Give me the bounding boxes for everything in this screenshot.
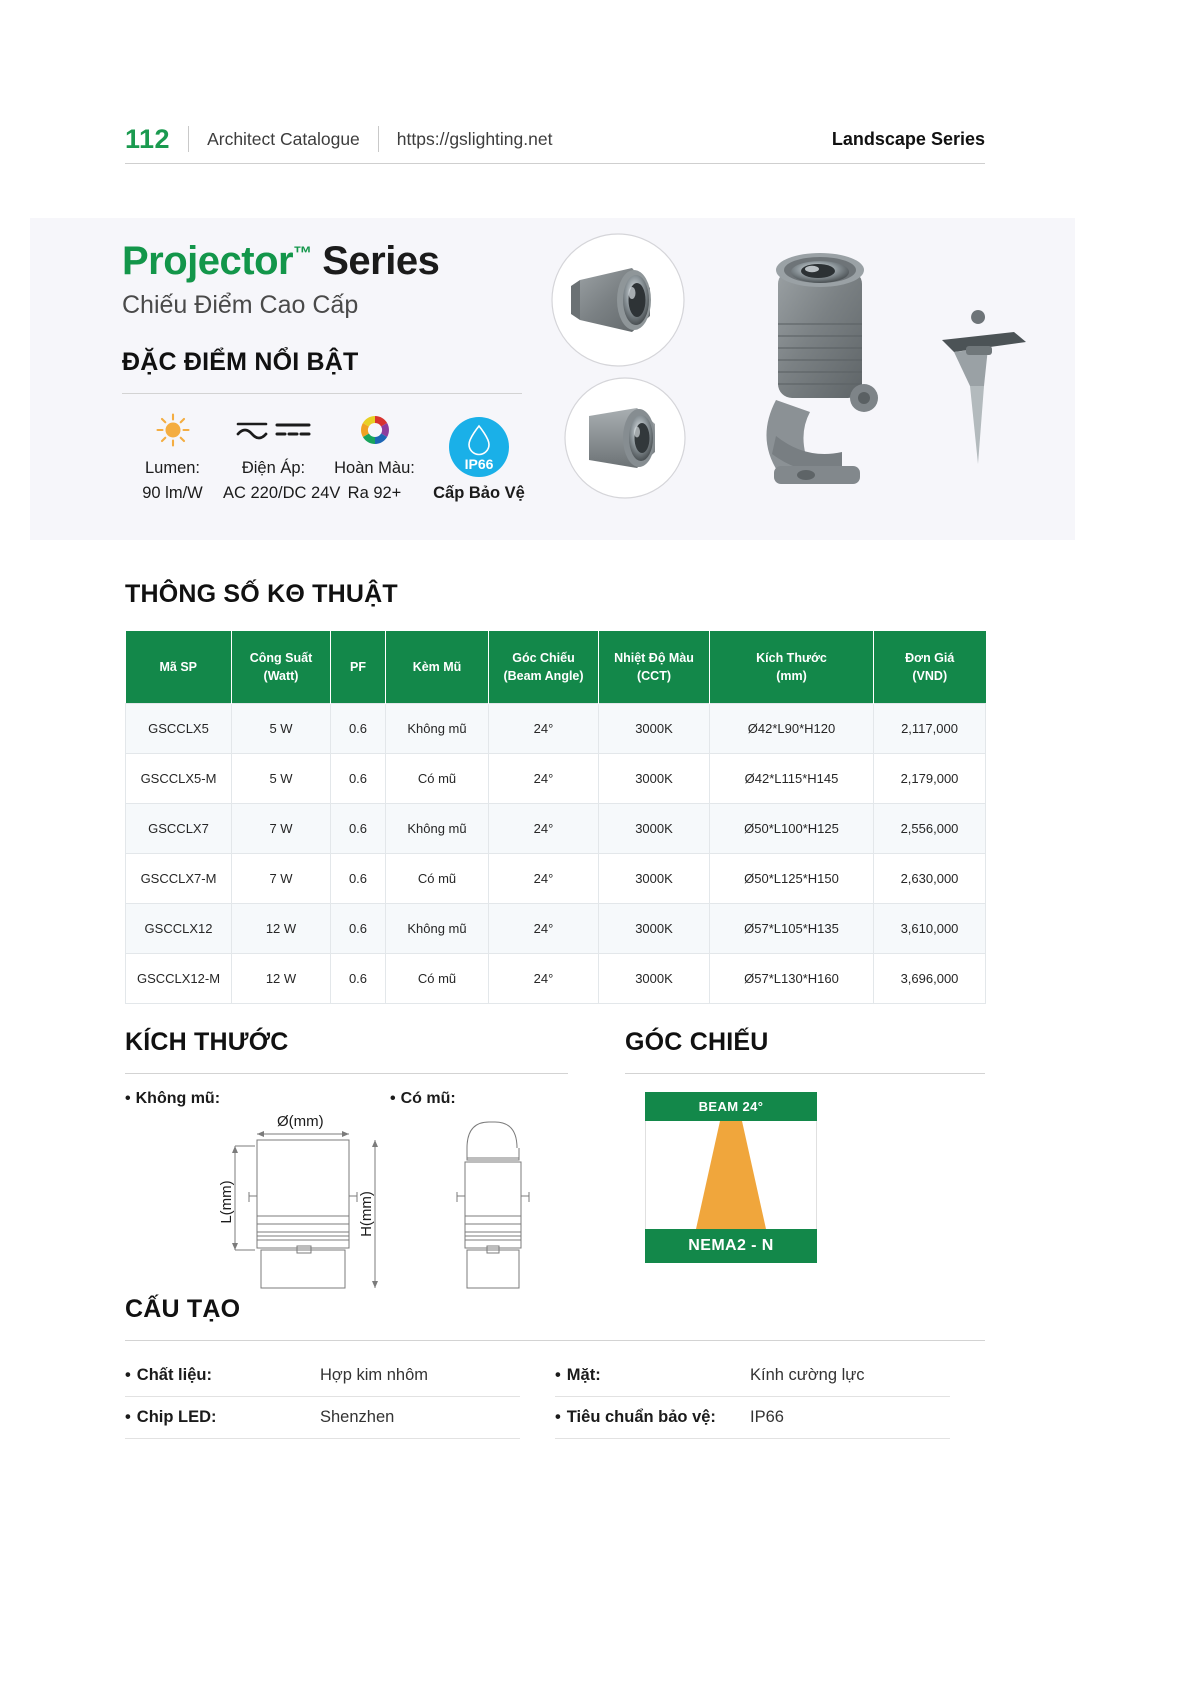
bullet-icon: • xyxy=(125,1408,131,1426)
col-line2: (Beam Angle) xyxy=(493,667,594,685)
construction-row: •Chất liệu: Hợp kim nhôm xyxy=(125,1355,520,1397)
beam-heading: GÓC CHIẾU xyxy=(625,1028,985,1057)
beam-cone-icon xyxy=(646,1121,816,1229)
col-header-goc-chieu: Góc Chiếu (Beam Angle) xyxy=(489,631,599,703)
beam-diagram: BEAM 24° NEMA2 - N xyxy=(645,1092,817,1264)
col-line2: (Watt) xyxy=(236,667,326,685)
table-row: GSCCLX7-M7 W0.6Có mũ24°3000KØ50*L125*H15… xyxy=(126,853,986,903)
product-photo-group xyxy=(530,230,1060,530)
bullet-icon: • xyxy=(390,1090,396,1107)
col-line1: Mã SP xyxy=(130,658,228,676)
table-cell-5: 3000K xyxy=(599,903,710,953)
beam-angle-label: BEAM 24° xyxy=(645,1092,817,1121)
col-header-don-gia: Đơn Giá (VND) xyxy=(874,631,986,703)
ip66-badge-icon: IP66 xyxy=(449,417,509,477)
feature-value: Ra 92+ xyxy=(324,484,425,503)
table-cell-0: GSCCLX7 xyxy=(126,803,232,853)
features-rule xyxy=(122,393,522,394)
table-header-row: Mã SP Công Suất (Watt) PF Kèm Mũ xyxy=(126,631,986,703)
table-row: GSCCLX77 W0.6Không mũ24°3000KØ50*L100*H1… xyxy=(126,803,986,853)
col-line2: (mm) xyxy=(714,667,869,685)
spec-heading: THÔNG SỐ KΘ THUẬT xyxy=(125,580,985,609)
table-cell-6: Ø42*L115*H145 xyxy=(710,753,874,803)
construction-value: Kính cường lực xyxy=(750,1366,865,1385)
table-cell-5: 3000K xyxy=(599,753,710,803)
table-cell-0: GSCCLX12 xyxy=(126,903,232,953)
table-cell-2: 0.6 xyxy=(331,903,386,953)
construction-section: CẤU TẠO •Chất liệu: Hợp kim nhôm •Chip L… xyxy=(125,1295,985,1439)
hero-text-block: Projector™ Series Chiếu Điểm Cao Cấp ĐẶC… xyxy=(122,238,542,503)
table-cell-3: Không mũ xyxy=(386,703,489,753)
dimensions-heading: KÍCH THƯỚC xyxy=(125,1028,565,1057)
col-line1: Kích Thước xyxy=(714,649,869,667)
table-cell-1: 5 W xyxy=(232,703,331,753)
construction-column-right: •Mặt: Kính cường lực •Tiêu chuẩn bảo vệ:… xyxy=(555,1355,985,1439)
header-rule xyxy=(125,163,985,164)
dimension-option-without-hood: •Không mũ: xyxy=(125,1090,390,1108)
table-cell-6: Ø42*L90*H120 xyxy=(710,703,874,753)
website-link[interactable]: https://gslighting.net xyxy=(397,129,553,150)
table-cell-5: 3000K xyxy=(599,803,710,853)
dimensions-section: KÍCH THƯỚC •Không mũ: •Có mũ: Ø(mm) xyxy=(125,1028,565,1302)
construction-row: •Mặt: Kính cường lực xyxy=(555,1355,950,1397)
table-cell-6: Ø57*L105*H135 xyxy=(710,903,874,953)
feature-cri: Hoàn Màu: Ra 92+ xyxy=(324,408,425,503)
table-cell-1: 5 W xyxy=(232,753,331,803)
construction-key: •Tiêu chuẩn bảo vệ: xyxy=(555,1408,750,1427)
table-cell-2: 0.6 xyxy=(331,853,386,903)
header-divider-2 xyxy=(378,126,379,152)
page-subtitle: Chiếu Điểm Cao Cấp xyxy=(122,291,542,320)
col-line1: Công Suất xyxy=(236,649,326,667)
table-cell-7: 2,630,000 xyxy=(874,853,986,903)
feature-voltage: Điện Áp: AC 220/DC 24V xyxy=(223,408,324,503)
col-line1: Nhiệt Độ Màu xyxy=(603,649,705,667)
table-cell-1: 7 W xyxy=(232,853,331,903)
table-cell-2: 0.6 xyxy=(331,953,386,1003)
col-header-kem-mu: Kèm Mũ xyxy=(386,631,489,703)
table-cell-1: 12 W xyxy=(232,903,331,953)
catalogue-label: Architect Catalogue xyxy=(207,129,360,150)
table-cell-4: 24° xyxy=(489,703,599,753)
table-cell-5: 3000K xyxy=(599,853,710,903)
table-cell-4: 24° xyxy=(489,753,599,803)
construction-row: •Tiêu chuẩn bảo vệ: IP66 xyxy=(555,1397,950,1439)
page-header: 112 Architect Catalogue https://gslighti… xyxy=(125,116,985,162)
construction-key: •Mặt: xyxy=(555,1366,750,1385)
table-cell-5: 3000K xyxy=(599,703,710,753)
bullet-icon: • xyxy=(125,1366,131,1384)
page-title: Projector™ Series xyxy=(122,238,542,284)
option-label: Có mũ: xyxy=(401,1090,456,1107)
option-label: Không mũ: xyxy=(136,1090,220,1107)
table-row: GSCCLX5-M5 W0.6Có mũ24°3000KØ42*L115*H14… xyxy=(126,753,986,803)
key-text: Chất liệu: xyxy=(137,1366,212,1384)
col-header-ma-sp: Mã SP xyxy=(126,631,232,703)
col-header-pf: PF xyxy=(331,631,386,703)
key-text: Tiêu chuẩn bảo vệ: xyxy=(567,1408,716,1426)
spec-table: Mã SP Công Suất (Watt) PF Kèm Mũ xyxy=(125,631,986,1004)
table-cell-3: Không mũ xyxy=(386,803,489,853)
color-wheel-icon xyxy=(324,408,425,452)
table-row: GSCCLX1212 W0.6Không mũ24°3000KØ57*L105*… xyxy=(126,903,986,953)
feature-ip-rating: IP66 Cấp Bảo Vệ xyxy=(425,417,533,503)
feature-value: AC 220/DC 24V xyxy=(223,484,324,503)
table-cell-1: 12 W xyxy=(232,953,331,1003)
hero-banner: Projector™ Series Chiếu Điểm Cao Cấp ĐẶC… xyxy=(30,218,1075,540)
table-cell-4: 24° xyxy=(489,853,599,903)
title-suffix: Series xyxy=(322,239,439,283)
construction-heading: CẤU TẠO xyxy=(125,1295,985,1324)
col-line1: Đơn Giá xyxy=(878,649,982,667)
feature-label: Lumen: xyxy=(122,459,223,478)
beam-section: GÓC CHIẾU BEAM 24° NEMA2 - N xyxy=(625,1028,985,1264)
construction-column-left: •Chất liệu: Hợp kim nhôm •Chip LED: Shen… xyxy=(125,1355,555,1439)
table-cell-1: 7 W xyxy=(232,803,331,853)
ip-rating-text: IP66 xyxy=(449,456,509,472)
beam-rule xyxy=(625,1073,985,1074)
construction-value: Shenzhen xyxy=(320,1408,394,1427)
col-header-cong-suat: Công Suất (Watt) xyxy=(232,631,331,703)
construction-key: •Chất liệu: xyxy=(125,1366,320,1385)
feature-label: Điện Áp: xyxy=(223,459,324,478)
label-height: H(mm) xyxy=(358,1191,375,1237)
ac-dc-icon xyxy=(223,408,324,452)
table-row: GSCCLX55 W0.6Không mũ24°3000KØ42*L90*H12… xyxy=(126,703,986,753)
construction-rule xyxy=(125,1340,985,1341)
bullet-icon: • xyxy=(125,1090,131,1107)
construction-value: IP66 xyxy=(750,1408,784,1427)
dimensions-rule xyxy=(125,1073,568,1074)
table-cell-3: Có mũ xyxy=(386,753,489,803)
construction-grid: •Chất liệu: Hợp kim nhôm •Chip LED: Shen… xyxy=(125,1355,985,1439)
col-line2: (VND) xyxy=(878,667,982,685)
construction-row: •Chip LED: Shenzhen xyxy=(125,1397,520,1439)
table-cell-2: 0.6 xyxy=(331,703,386,753)
feature-list: Lumen: 90 lm/W xyxy=(122,408,542,503)
construction-key: •Chip LED: xyxy=(125,1408,320,1427)
table-cell-7: 3,696,000 xyxy=(874,953,986,1003)
table-cell-0: GSCCLX7-M xyxy=(126,853,232,903)
table-body: GSCCLX55 W0.6Không mũ24°3000KØ42*L90*H12… xyxy=(126,703,986,1003)
col-header-kich-thuoc: Kích Thước (mm) xyxy=(710,631,874,703)
feature-value: 90 lm/W xyxy=(122,484,223,503)
spec-section: THÔNG SỐ KΘ THUẬT Mã SP Công Suất (Watt) xyxy=(125,580,985,1004)
table-cell-5: 3000K xyxy=(599,953,710,1003)
dimension-drawings: Ø(mm) xyxy=(125,1112,565,1302)
table-cell-6: Ø57*L130*H160 xyxy=(710,953,874,1003)
table-cell-6: Ø50*L100*H125 xyxy=(710,803,874,853)
col-line1: Góc Chiếu xyxy=(493,649,594,667)
col-line2: (CCT) xyxy=(603,667,705,685)
table-cell-2: 0.6 xyxy=(331,803,386,853)
feature-label: Cấp Bảo Vệ xyxy=(425,484,533,503)
beam-cone-area xyxy=(645,1121,817,1229)
col-line1: Kèm Mũ xyxy=(390,658,484,676)
features-heading: ĐẶC ĐIỂM NỔI BẬT xyxy=(122,348,542,377)
table-cell-7: 2,117,000 xyxy=(874,703,986,753)
table-cell-0: GSCCLX5 xyxy=(126,703,232,753)
catalogue-page: 112 Architect Catalogue https://gslighti… xyxy=(0,0,1190,1684)
table-cell-0: GSCCLX5-M xyxy=(126,753,232,803)
feature-label: Hoàn Màu: xyxy=(324,459,425,478)
feature-lumen: Lumen: 90 lm/W xyxy=(122,408,223,503)
trademark-symbol: ™ xyxy=(293,244,312,265)
dimension-option-labels: •Không mũ: •Có mũ: xyxy=(125,1090,565,1108)
table-cell-7: 2,179,000 xyxy=(874,753,986,803)
table-cell-7: 3,610,000 xyxy=(874,903,986,953)
table-cell-7: 2,556,000 xyxy=(874,803,986,853)
table-cell-2: 0.6 xyxy=(331,753,386,803)
bullet-icon: • xyxy=(555,1408,561,1426)
sun-icon xyxy=(122,408,223,452)
table-cell-3: Có mũ xyxy=(386,953,489,1003)
table-cell-4: 24° xyxy=(489,803,599,853)
nema-label: NEMA2 - N xyxy=(645,1229,817,1263)
col-header-cct: Nhiệt Độ Màu (CCT) xyxy=(599,631,710,703)
series-label: Landscape Series xyxy=(832,129,985,150)
title-brand: Projector xyxy=(122,239,293,283)
construction-value: Hợp kim nhôm xyxy=(320,1366,428,1385)
col-line1: PF xyxy=(335,658,381,676)
bullet-icon: • xyxy=(555,1366,561,1384)
table-cell-4: 24° xyxy=(489,903,599,953)
header-divider-1 xyxy=(188,126,189,152)
table-cell-6: Ø50*L125*H150 xyxy=(710,853,874,903)
label-length: L(mm) xyxy=(218,1180,235,1223)
label-diameter: Ø(mm) xyxy=(277,1113,324,1130)
table-cell-3: Có mũ xyxy=(386,853,489,903)
page-number: 112 xyxy=(125,124,170,155)
table-row: GSCCLX12-M12 W0.6Có mũ24°3000KØ57*L130*H… xyxy=(126,953,986,1003)
dimension-option-with-hood: •Có mũ: xyxy=(390,1090,456,1108)
table-cell-0: GSCCLX12-M xyxy=(126,953,232,1003)
table-cell-4: 24° xyxy=(489,953,599,1003)
key-text: Mặt: xyxy=(567,1366,601,1384)
table-cell-3: Không mũ xyxy=(386,903,489,953)
key-text: Chip LED: xyxy=(137,1408,217,1426)
